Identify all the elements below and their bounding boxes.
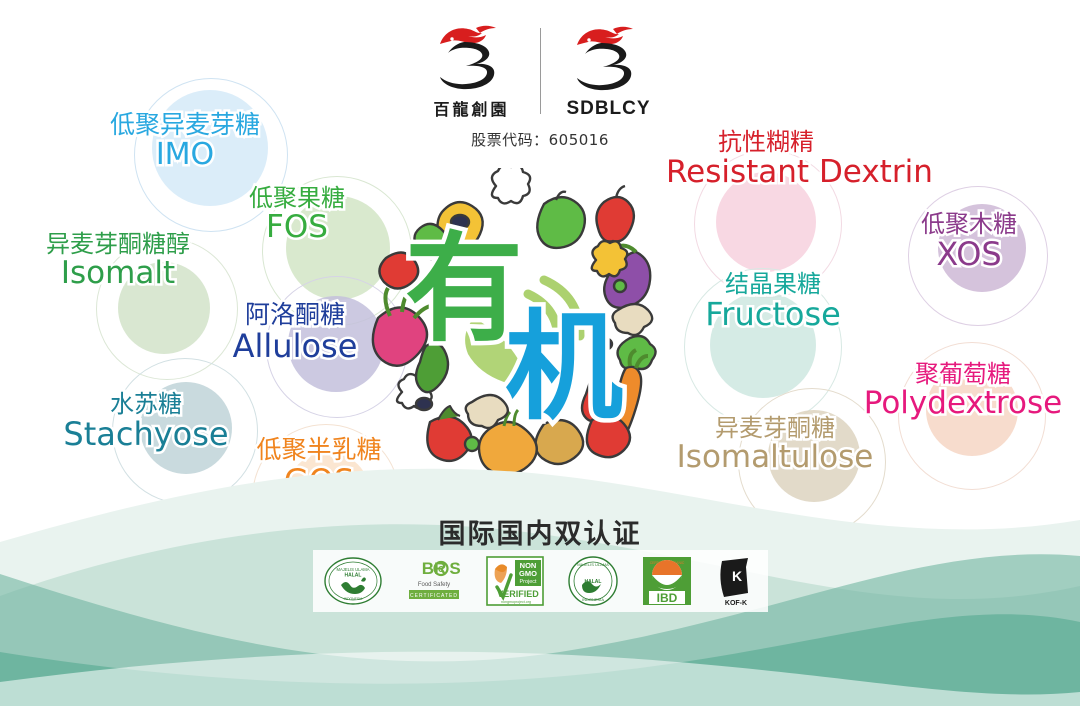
- cert-halal: MAJELIS ULAMA HALAL INDONESIA: [323, 553, 383, 609]
- svg-text:KOF-K: KOF-K: [725, 600, 747, 607]
- svg-text:K: K: [732, 568, 742, 584]
- product-en-fructose: Fructose: [678, 298, 868, 331]
- product-en-imo: IMO: [85, 140, 285, 171]
- svg-text:GMO: GMO: [519, 569, 537, 578]
- product-label-allulose: 阿洛酮糖阿洛酮糖 AlluloseAllulose: [205, 302, 385, 362]
- cert-mui: MAJELIS ULAMA HALAL INDONESIA: [566, 553, 620, 609]
- svg-text:CERTIFICATED: CERTIFICATED: [410, 593, 458, 599]
- product-cn-allulose: 阿洛酮糖: [205, 302, 385, 328]
- logo-divider: [540, 28, 541, 114]
- product-cn-fructose: 结晶果糖: [678, 272, 868, 296]
- svg-text:CERTIFIED ORGANIC: CERTIFIED ORGANIC: [649, 561, 684, 565]
- product-cn-resistant-dextrin: 抗性糊精: [666, 130, 866, 154]
- brand-name-en: SDBLCY: [566, 98, 650, 120]
- majelis-ulama-indonesia-icon: MAJELIS ULAMA HALAL INDONESIA: [566, 555, 620, 607]
- cert-non-gmo: NON GMO Project VERIFIED nongmoproject.o…: [485, 553, 545, 609]
- svg-text:MAJELIS ULAMA: MAJELIS ULAMA: [577, 562, 609, 567]
- logo-cn-half: 百龍創園: [418, 22, 526, 120]
- svg-text:Food Safety: Food Safety: [418, 582, 450, 588]
- certification-title: 国际国内双认证: [0, 512, 1080, 551]
- product-label-resistant-dextrin: 抗性糊精抗性糊精 Resistant DextrinResistant Dext…: [666, 130, 866, 189]
- ibd-organic-icon: CERTIFIED ORGANIC IBD: [640, 555, 694, 607]
- brcgs-food-safety-icon: BR C S Food Safety CERTIFICATED: [403, 556, 465, 606]
- product-cn-stachyose: 水苏糖: [48, 392, 244, 416]
- organic-center-graphic: 有 机: [368, 168, 672, 472]
- organic-char-2: 机: [505, 298, 623, 436]
- product-en-allulose: Allulose: [205, 330, 385, 363]
- svg-text:HALAL: HALAL: [584, 579, 601, 585]
- svg-text:nongmoproject.org: nongmoproject.org: [501, 600, 531, 604]
- product-label-fos: 低聚果糖低聚果糖 FOSFOS: [222, 186, 372, 244]
- svg-text:C: C: [438, 565, 444, 574]
- svg-text:S: S: [450, 559, 461, 578]
- product-label-xos: 低聚木糖低聚木糖 XOSXOS: [884, 212, 1054, 271]
- svg-text:Project: Project: [520, 579, 538, 585]
- product-cn-isomalt: 异麦芽酮糖醇: [18, 232, 218, 256]
- brand-name-cn: 百龍創園: [433, 96, 509, 120]
- product-en-xos: XOS: [884, 238, 1054, 271]
- svg-text:INDONESIA: INDONESIA: [582, 597, 604, 602]
- cert-brcgs: BR C S Food Safety CERTIFICATED: [403, 553, 465, 609]
- product-cn-isomaltulose: 异麦芽酮糖: [660, 416, 890, 440]
- certification-logo-band: MAJELIS ULAMA HALAL INDONESIA BR C S Foo…: [313, 550, 768, 612]
- product-cn-imo: 低聚异麦芽糖: [85, 112, 285, 138]
- product-cn-polydextrose: 聚葡萄糖: [848, 362, 1078, 386]
- cert-ibd: CERTIFIED ORGANIC IBD: [640, 553, 694, 609]
- dragon-b-logo-icon: [430, 22, 514, 94]
- non-gmo-project-verified-icon: NON GMO Project VERIFIED nongmoproject.o…: [485, 555, 545, 607]
- product-en-isomalt: Isomalt: [18, 258, 218, 290]
- product-cn-fos: 低聚果糖: [222, 186, 372, 210]
- cert-kof-k: K KOF-K: [714, 553, 758, 609]
- product-label-fructose: 结晶果糖结晶果糖 FructoseFructose: [678, 272, 868, 331]
- halal-certification-icon: MAJELIS ULAMA HALAL INDONESIA: [323, 555, 383, 607]
- logo-en-half: SDBLCY: [555, 23, 663, 120]
- product-label-polydextrose: 聚葡萄糖聚葡萄糖 PolydextrosePolydextrose: [848, 362, 1078, 420]
- svg-text:HALAL: HALAL: [345, 573, 362, 579]
- svg-text:VERIFIED: VERIFIED: [498, 589, 540, 599]
- product-label-imo: 低聚异麦芽糖低聚异麦芽糖 IMOIMO: [85, 112, 285, 170]
- product-label-stachyose: 水苏糖水苏糖 StachyoseStachyose: [48, 392, 244, 451]
- svg-text:INDONESIA: INDONESIA: [344, 597, 363, 601]
- product-label-isomalt: 异麦芽酮糖醇异麦芽酮糖醇 IsomaltIsomalt: [18, 232, 218, 290]
- product-en-fos: FOS: [222, 212, 372, 244]
- dragon-b-logo-icon-en: [567, 23, 651, 95]
- product-cn-xos: 低聚木糖: [884, 212, 1054, 236]
- poster-canvas: 百龍創園 SDBLCY 股票代码：605016: [0, 0, 1080, 706]
- kof-k-kosher-icon: K KOF-K: [714, 555, 758, 607]
- organic-characters: 有 机: [368, 168, 672, 472]
- svg-text:IBD: IBD: [656, 591, 677, 605]
- product-en-resistant-dextrin: Resistant Dextrin: [666, 156, 866, 189]
- svg-text:MAJELIS ULAMA: MAJELIS ULAMA: [336, 567, 369, 572]
